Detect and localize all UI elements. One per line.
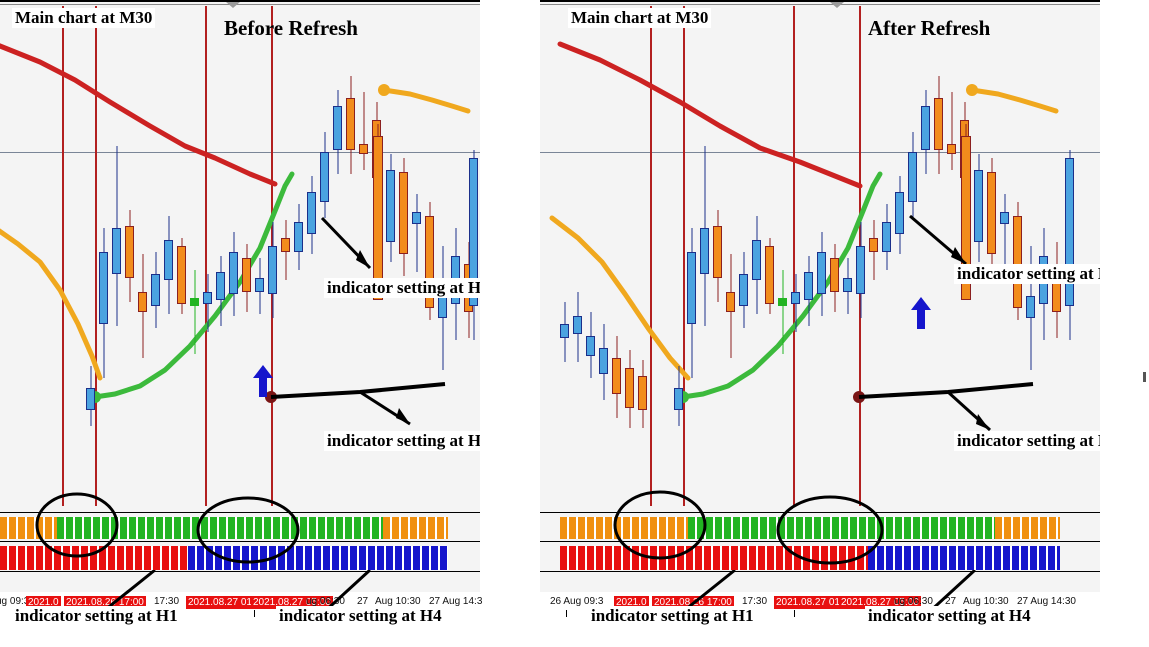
chart-frame-right[interactable]: indicator setting at H1 indicator settin… bbox=[540, 0, 1100, 592]
annotation-h1-below: indicator setting at H1 bbox=[588, 606, 757, 626]
annotation-h4-below: indicator setting at H4 bbox=[276, 606, 445, 626]
chart-label-right: Main chart at M30 bbox=[568, 8, 711, 28]
chevron-down-icon[interactable] bbox=[226, 2, 240, 8]
panel-before-refresh: indicator setting at H1 indicator settin… bbox=[0, 0, 480, 647]
h1-highlight-circle bbox=[615, 492, 705, 558]
h4-highlight-circle bbox=[778, 497, 882, 563]
annotation-h1-below: indicator setting at H1 bbox=[12, 606, 181, 626]
h1-highlight-circle bbox=[37, 494, 117, 556]
h4-highlight-circle bbox=[198, 498, 298, 562]
chevron-down-icon[interactable] bbox=[830, 2, 844, 8]
panel-title-left: Before Refresh bbox=[224, 16, 358, 41]
annotation-h4-below: indicator setting at H4 bbox=[865, 606, 1034, 626]
stray-tick-mark bbox=[1143, 372, 1146, 382]
highlight-circles-right bbox=[540, 0, 1100, 592]
panel-title-right: After Refresh bbox=[868, 16, 990, 41]
highlight-circles-left bbox=[0, 0, 480, 592]
chart-label-left: Main chart at M30 bbox=[12, 8, 155, 28]
panel-after-refresh: indicator setting at H1 indicator settin… bbox=[540, 0, 1100, 647]
chart-frame-left[interactable]: indicator setting at H1 indicator settin… bbox=[0, 0, 480, 592]
